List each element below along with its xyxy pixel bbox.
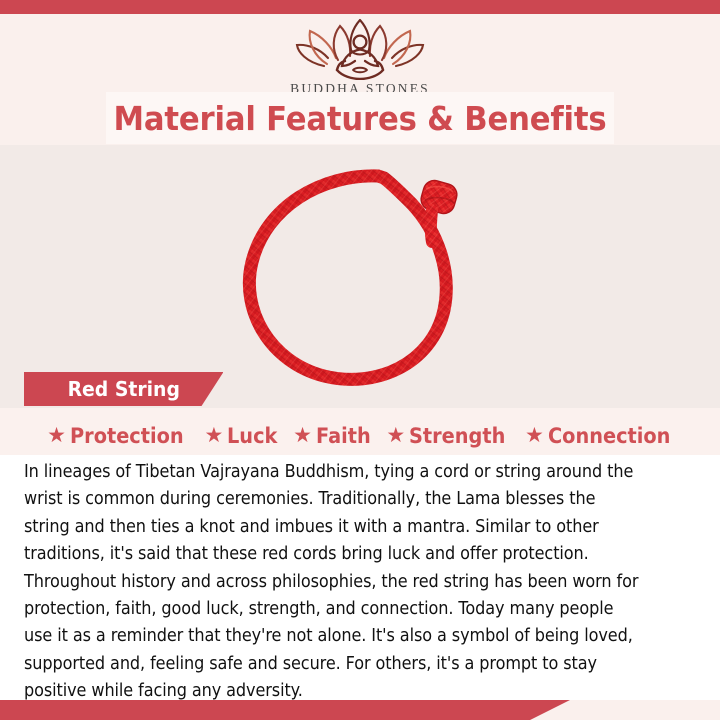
benefit-label: Connection	[548, 424, 670, 448]
benefit-label: Strength	[409, 424, 505, 448]
benefit-item-luck: ★ Luck	[205, 424, 283, 448]
star-icon: ★	[525, 425, 544, 446]
benefit-item-protection: ★ Protection	[47, 424, 193, 448]
benefit-list: ★ Protection ★ Luck ★ Faith ★ Strength ★…	[24, 418, 704, 454]
material-name-tag: Red String	[24, 372, 223, 406]
page-title: Material Features & Benefits	[114, 99, 607, 138]
benefit-label: Luck	[227, 424, 277, 448]
benefit-label: Protection	[70, 424, 184, 448]
star-icon: ★	[205, 425, 224, 446]
benefit-item-strength: ★ Strength	[386, 424, 514, 448]
brand-logo: BUDDHA STONES	[0, 18, 720, 97]
star-icon: ★	[386, 425, 405, 446]
material-name-label: Red String	[68, 377, 180, 401]
star-icon: ★	[47, 425, 66, 446]
title-banner: Material Features & Benefits	[106, 92, 614, 144]
bracelet-stage	[0, 145, 720, 408]
benefit-label: Faith	[316, 424, 371, 448]
description-text: In lineages of Tibetan Vajrayana Buddhis…	[24, 459, 646, 706]
product-image-panel	[0, 145, 720, 408]
red-string-bracelet-image	[226, 158, 494, 396]
star-icon: ★	[293, 425, 312, 446]
benefit-item-faith: ★ Faith	[293, 424, 375, 448]
lotus-meditation-icon	[294, 18, 426, 80]
poster-root: BUDDHA STONES Material Features & Benefi…	[0, 0, 720, 720]
top-accent-band	[0, 0, 720, 14]
description-panel: In lineages of Tibetan Vajrayana Buddhis…	[0, 455, 720, 700]
benefit-item-connection: ★ Connection	[525, 424, 681, 448]
